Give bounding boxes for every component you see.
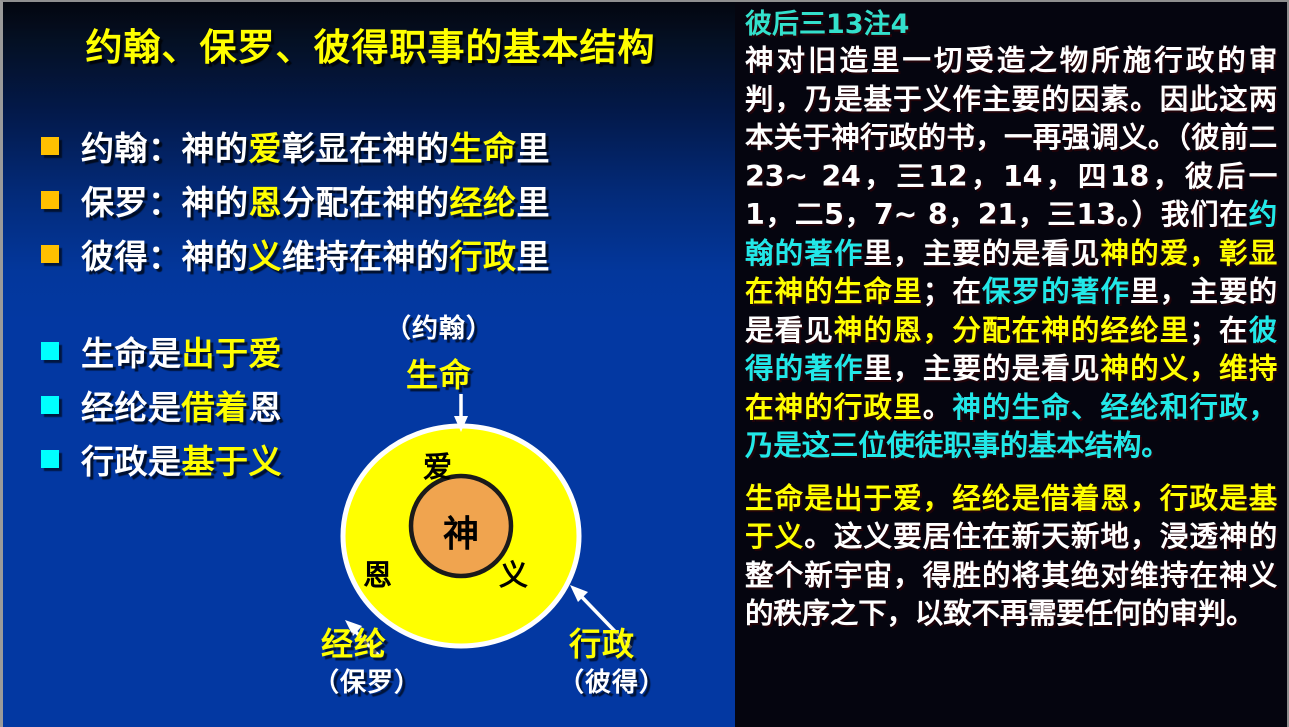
bullet-principle-2: 经纶是借着恩 <box>41 378 282 432</box>
ring-word-love: 爱 <box>423 444 452 486</box>
footnote-text-run: ；在 <box>923 275 982 308</box>
footnote-text-run: 里，主要的是看见 <box>864 237 1101 270</box>
callout-john-paren: （约翰） <box>385 308 493 345</box>
bullet-principle-label: 经纶是借着恩 <box>81 381 282 429</box>
bullet-principle-label: 生命是出于爱 <box>81 327 282 375</box>
callout-economy: 经纶 <box>321 619 387 665</box>
bullet-list-ministries: 约翰：神的爱彰显在神的生命里保罗：神的恩分配在神的经纶里彼得：神的义维持在神的行… <box>41 119 550 281</box>
footnote-text-run: 。 <box>923 391 953 424</box>
footnote-text-run: 神对旧造里一切受造之物所施行政的审判，乃是基于义作主要的因素。因此这两本关于神行… <box>745 44 1277 231</box>
square-bullet-icon <box>41 191 59 209</box>
callout-paul-paren: （保罗） <box>313 662 421 699</box>
bullet-ministry-2: 保罗：神的恩分配在神的经纶里 <box>41 173 550 227</box>
bullet-ministry-label: 保罗：神的恩分配在神的经纶里 <box>81 176 550 224</box>
left-content-panel: 约翰、保罗、彼得职事的基本结构 约翰：神的爱彰显在神的生命里保罗：神的恩分配在神… <box>0 0 735 727</box>
footnote-text-run: ；在 <box>1189 314 1248 347</box>
ring-word-righteousness: 义 <box>499 552 528 594</box>
bullet-principle-label: 行政是基于义 <box>81 435 282 483</box>
ministry-structure-diagram: 爱 恩 义 神 （约翰） 生命 经纶 （保罗） 行政 （彼得） <box>321 298 735 727</box>
footnote-paragraph-2: 生命是出于爱，经纶是借着恩，行政是基于义。这义要居住在新天新地，浸透神的整个新宇… <box>745 480 1277 634</box>
bullet-ministry-label: 约翰：神的爱彰显在神的生命里 <box>81 122 550 170</box>
page-title: 约翰、保罗、彼得职事的基本结构 <box>3 17 735 71</box>
ring-word-grace: 恩 <box>363 552 392 594</box>
bullet-list-principles: 生命是出于爱经纶是借着恩行政是基于义 <box>41 324 282 486</box>
footnote-text-run: 。这义要居住在新天新地，浸透神的整个新宇宙，得胜的将其绝对维持在神义的秩序之下，… <box>745 520 1277 630</box>
callout-administration: 行政 <box>569 619 635 665</box>
footnote-heading: 彼后三13注4 <box>745 8 1277 42</box>
footnote-text-run: 保罗的著作 <box>982 275 1130 308</box>
callout-peter-paren: （彼得） <box>558 662 666 699</box>
square-bullet-icon <box>41 245 59 263</box>
square-bullet-icon <box>41 450 59 468</box>
bullet-principle-1: 生命是出于爱 <box>41 324 282 378</box>
footnote-paragraph-1: 神对旧造里一切受造之物所施行政的审判，乃是基于义作主要的因素。因此这两本关于神行… <box>745 42 1277 466</box>
footnote-panel: 彼后三13注4 神对旧造里一切受造之物所施行政的审判，乃是基于义作主要的因素。因… <box>735 0 1289 727</box>
bullet-ministry-label: 彼得：神的义维持在神的行政里 <box>81 230 550 278</box>
footnote-text-run: 神的恩，分配在神的经纶里 <box>834 314 1190 347</box>
bullet-ministry-3: 彼得：神的义维持在神的行政里 <box>41 227 550 281</box>
square-bullet-icon <box>41 137 59 155</box>
center-word-god: 神 <box>423 505 499 557</box>
square-bullet-icon <box>41 396 59 414</box>
bullet-ministry-1: 约翰：神的爱彰显在神的生命里 <box>41 119 550 173</box>
footnote-text-run: 里，主要的是看见 <box>864 352 1101 385</box>
callout-life: 生命 <box>406 350 472 396</box>
slide-root: 约翰、保罗、彼得职事的基本结构 约翰：神的爱彰显在神的生命里保罗：神的恩分配在神… <box>0 0 1289 727</box>
square-bullet-icon <box>41 342 59 360</box>
bullet-principle-3: 行政是基于义 <box>41 432 282 486</box>
